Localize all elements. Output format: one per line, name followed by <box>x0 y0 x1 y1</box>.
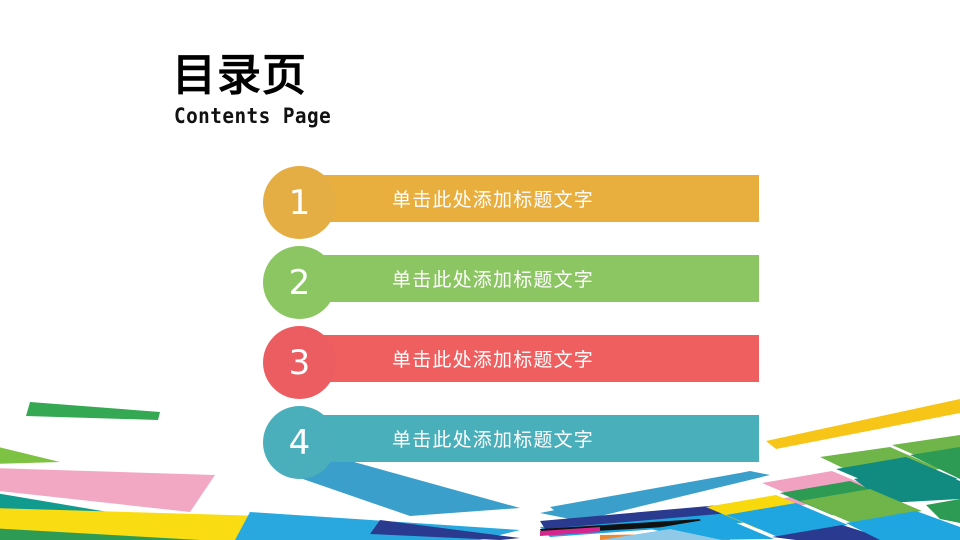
slide-canvas: 目录页 Contents Page 单击此处添加标题文字 1 单击此处添加标题文… <box>0 0 960 540</box>
contents-item-1-number: 1 <box>289 186 311 220</box>
page-subtitle: Contents Page <box>174 104 331 128</box>
contents-item-4-number: 4 <box>289 426 311 460</box>
contents-item-3-number: 3 <box>289 346 311 380</box>
contents-item-3-label: 单击此处添加标题文字 <box>392 345 594 372</box>
contents-item-3[interactable]: 单击此处添加标题文字 3 <box>263 326 763 406</box>
title-block: 目录页 Contents Page <box>172 52 345 128</box>
contents-item-2-number: 2 <box>289 266 311 300</box>
contents-item-1-bar[interactable]: 单击此处添加标题文字 <box>300 175 759 222</box>
contents-item-3-number-badge[interactable]: 3 <box>263 326 336 399</box>
contents-item-1[interactable]: 单击此处添加标题文字 1 <box>263 166 763 246</box>
contents-item-4-label: 单击此处添加标题文字 <box>392 425 594 452</box>
contents-item-4-number-badge[interactable]: 4 <box>263 406 336 479</box>
contents-item-2-number-badge[interactable]: 2 <box>263 246 336 319</box>
contents-item-3-bar[interactable]: 单击此处添加标题文字 <box>300 335 759 382</box>
page-title: 目录页 <box>172 52 345 100</box>
contents-item-4[interactable]: 单击此处添加标题文字 4 <box>263 406 763 486</box>
contents-list: 单击此处添加标题文字 1 单击此处添加标题文字 2 单击此处添加标题文字 3 <box>263 166 763 486</box>
contents-item-2-label: 单击此处添加标题文字 <box>392 265 594 292</box>
contents-item-1-number-badge[interactable]: 1 <box>263 166 336 239</box>
contents-item-2[interactable]: 单击此处添加标题文字 2 <box>263 246 763 326</box>
contents-item-2-bar[interactable]: 单击此处添加标题文字 <box>300 255 759 302</box>
contents-item-1-label: 单击此处添加标题文字 <box>392 185 594 212</box>
contents-item-4-bar[interactable]: 单击此处添加标题文字 <box>300 415 759 462</box>
